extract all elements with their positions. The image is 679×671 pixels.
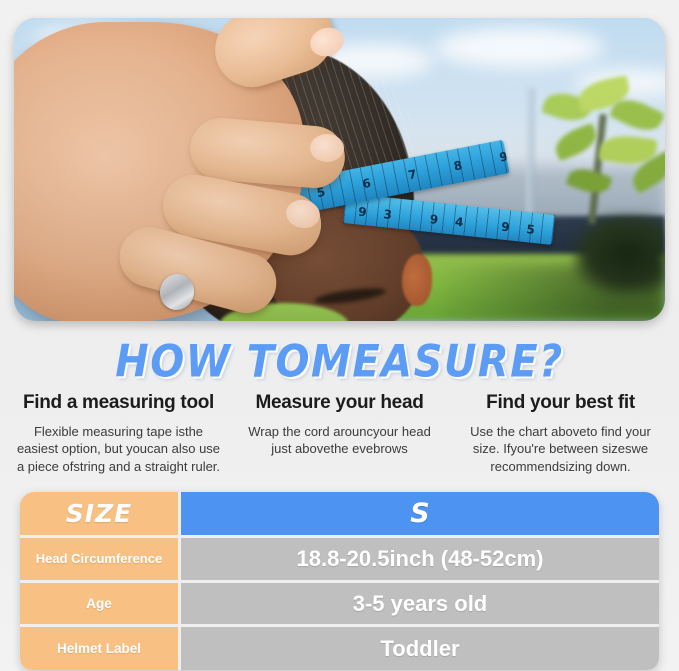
table-row: Helmet Label Toddler: [20, 627, 659, 670]
table-row-label: Helmet Label: [20, 627, 178, 670]
instruction-heading: Find a measuring tool: [16, 392, 221, 414]
size-chart-table: SIZE S Head Circumference 18.8-20.5inch …: [20, 492, 659, 670]
table-row-value: Toddler: [181, 627, 659, 670]
instruction-column-3: Find your best fit Use the chart aboveto…: [450, 392, 671, 475]
tree-leaf: [566, 163, 613, 198]
instruction-column-1: Find a measuring tool Flexible measuring…: [8, 392, 229, 475]
dark-foliage: [574, 214, 665, 294]
table-header-value: S: [181, 492, 659, 535]
table-row-value: 3-5 years old: [181, 583, 659, 624]
tree: [534, 74, 665, 224]
photo-scene: 93 94 95 96 3 4 5 6 7 8 9 10 11 12: [14, 18, 665, 321]
instruction-heading: Measure your head: [237, 392, 442, 414]
table-row-label: Head Circumference: [20, 538, 178, 580]
instruction-columns: Find a measuring tool Flexible measuring…: [8, 392, 671, 475]
child-ear: [402, 254, 432, 306]
table-row-header: SIZE S: [20, 492, 659, 535]
table-header-label: SIZE: [20, 492, 178, 535]
page-root: 93 94 95 96 3 4 5 6 7 8 9 10 11 12 HOW T…: [0, 0, 679, 671]
cloud-shape: [434, 28, 604, 68]
table-row: Head Circumference 18.8-20.5inch (48-52c…: [20, 538, 659, 580]
measuring-photo: 93 94 95 96 3 4 5 6 7 8 9 10 11 12: [14, 18, 665, 321]
instruction-body: Use the chart aboveto find your size. If…: [458, 423, 663, 475]
fingernail: [310, 134, 344, 162]
instruction-column-2: Measure your head Wrap the cord arouncyo…: [229, 392, 450, 475]
table-row: Age 3-5 years old: [20, 583, 659, 624]
table-row-label: Age: [20, 583, 178, 624]
instruction-heading: Find your best fit: [458, 392, 663, 414]
instruction-body: Flexible measuring tape isthe easiest op…: [16, 423, 221, 475]
instruction-body: Wrap the cord arouncyour head just above…: [237, 423, 442, 458]
tree-leaf: [551, 123, 601, 162]
table-row-value: 18.8-20.5inch (48-52cm): [181, 538, 659, 580]
page-title: HOW TOMEASURE?: [0, 336, 679, 388]
